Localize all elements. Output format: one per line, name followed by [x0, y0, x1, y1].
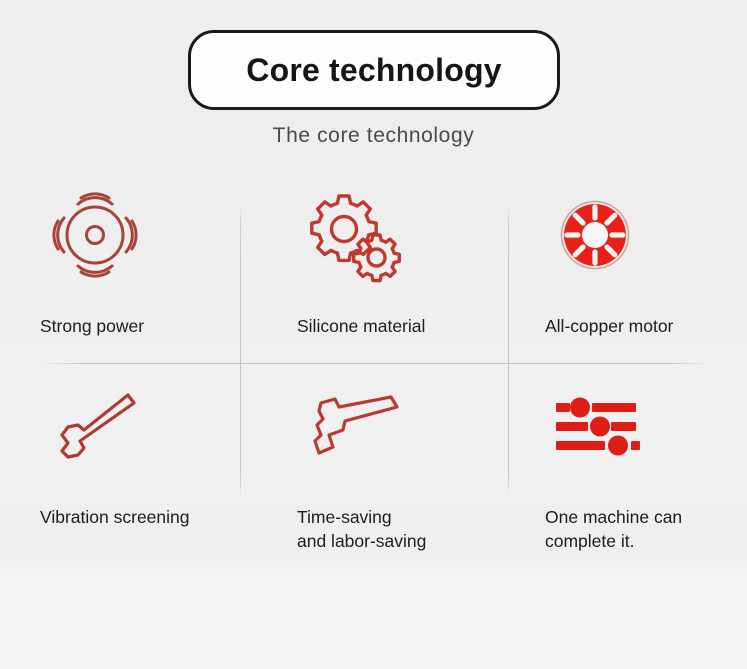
feature-cell-silicone-material[interactable]: Silicone material	[297, 190, 497, 338]
feature-cell-all-copper-motor[interactable]: All-copper motor	[545, 190, 735, 338]
feature-label: One machine can complete it.	[545, 505, 740, 553]
feature-cell-strong-power[interactable]: Strong power	[40, 190, 235, 338]
core-technology-panel: Core technology The core technology	[0, 0, 747, 669]
sliders-icon	[545, 385, 740, 475]
vibrating-disc-icon	[40, 190, 235, 280]
vibration-tool-icon	[40, 385, 235, 475]
feature-label: Strong power	[40, 314, 235, 338]
feature-label: Time-saving and labor-saving	[297, 505, 497, 553]
grid-divider-vertical-left	[240, 205, 241, 497]
gears-icon	[297, 190, 497, 280]
page-title: Core technology	[246, 52, 501, 89]
feature-cell-one-machine[interactable]: One machine can complete it.	[545, 385, 740, 553]
feature-label: All-copper motor	[545, 314, 735, 338]
feature-label: Silicone material	[297, 314, 497, 338]
page-subtitle: The core technology	[0, 124, 747, 148]
feature-label: Vibration screening	[40, 505, 235, 529]
grid-divider-vertical-right	[508, 205, 509, 497]
feature-grid: Strong power Silicone material	[0, 180, 747, 580]
feature-cell-vibration-screening[interactable]: Vibration screening	[40, 385, 235, 529]
feature-cell-time-saving[interactable]: Time-saving and labor-saving	[297, 385, 497, 553]
hammer-icon	[297, 385, 497, 475]
motor-gear-wheel-icon	[545, 190, 735, 280]
page-title-box: Core technology	[188, 30, 560, 110]
grid-divider-horizontal	[40, 363, 710, 364]
